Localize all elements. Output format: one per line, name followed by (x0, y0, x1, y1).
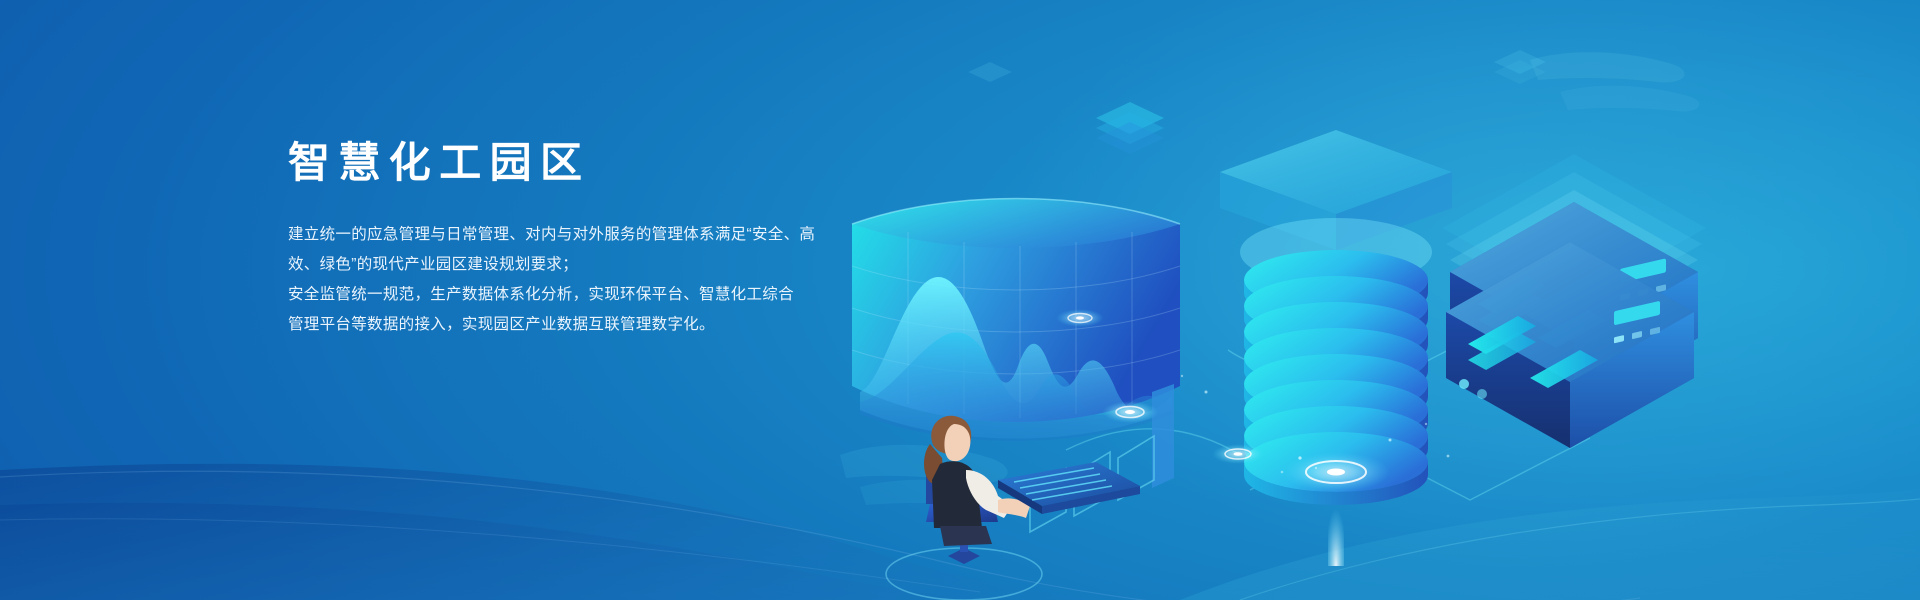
hero-copy: 智慧化工园区 建立统一的应急管理与日常管理、对内与对外服务的管理体系满足“安全、… (288, 140, 888, 340)
person-legs (940, 526, 992, 546)
stacked-cylinder-tower (1220, 130, 1452, 566)
hero-illustration (830, 20, 1920, 600)
page-title: 智慧化工园区 (288, 140, 888, 186)
floating-isometric-plates (968, 50, 1546, 154)
description-line: 安全监管统一规范，生产数据体系化分析，实现环保平台、智慧化工综合 (288, 280, 888, 310)
description-line: 建立统一的应急管理与日常管理、对内与对外服务的管理体系满足“安全、高 (288, 220, 888, 250)
curved-data-panel-chart (852, 199, 1180, 489)
glowing-node-ring-b (1056, 309, 1104, 327)
hero-description: 建立统一的应急管理与日常管理、对内与对外服务的管理体系满足“安全、高 效、绿色”… (288, 220, 888, 340)
floating-plate-tiny (968, 62, 1012, 82)
glowing-node-ring-tower (1282, 452, 1390, 492)
description-line: 管理平台等数据的接入，实现园区产业数据互联管理数字化。 (288, 310, 888, 340)
panel-stem (1152, 384, 1174, 488)
floating-plate-small (1096, 102, 1164, 154)
person-face (944, 424, 970, 461)
description-line: 效、绿色”的现代产业园区建设规划要求； (288, 250, 888, 280)
illustration-svg (830, 20, 1920, 600)
person-at-keyboard (886, 416, 1140, 600)
hero-banner: 智慧化工园区 建立统一的应急管理与日常管理、对内与对外服务的管理体系满足“安全、… (0, 0, 1920, 600)
glowing-node-ring-c (1212, 444, 1264, 464)
tower-light-beam (1328, 484, 1344, 566)
glowing-node-ring-a (1102, 401, 1158, 423)
